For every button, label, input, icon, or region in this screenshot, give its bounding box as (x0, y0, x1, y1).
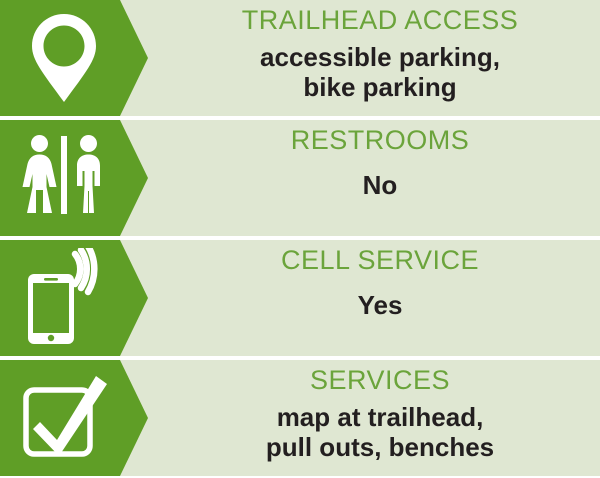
info-row-trailhead-access: TRAILHEAD ACCESS accessible parking, bik… (0, 0, 600, 116)
row-value: accessible parking, bike parking (260, 42, 500, 102)
row-value: map at trailhead, pull outs, benches (266, 402, 494, 462)
row-value: Yes (358, 290, 403, 320)
row-title: SERVICES (310, 366, 450, 396)
row-title: RESTROOMS (291, 126, 470, 156)
text-block-cell-service: CELL SERVICE Yes (160, 240, 600, 356)
row-title: TRAILHEAD ACCESS (242, 6, 519, 36)
checkmark-box-icon (14, 368, 114, 468)
info-row-restrooms: RESTROOMS No (0, 120, 600, 236)
row-value: No (363, 170, 398, 200)
info-row-services: SERVICES map at trailhead, pull outs, be… (0, 360, 600, 476)
info-row-cell-service: CELL SERVICE Yes (0, 240, 600, 356)
row-title: CELL SERVICE (281, 246, 479, 276)
cell-service-icon (14, 248, 114, 348)
icon-block-cell-service (0, 240, 148, 356)
trailhead-amenities-infographic: TRAILHEAD ACCESS accessible parking, bik… (0, 0, 600, 478)
text-block-trailhead-access: TRAILHEAD ACCESS accessible parking, bik… (160, 0, 600, 116)
icon-block-trailhead-access (0, 0, 148, 116)
map-pin-icon (14, 8, 114, 108)
icon-block-restrooms (0, 120, 148, 236)
text-block-services: SERVICES map at trailhead, pull outs, be… (160, 360, 600, 476)
restrooms-icon (14, 128, 114, 228)
text-block-restrooms: RESTROOMS No (160, 120, 600, 236)
icon-block-services (0, 360, 148, 476)
